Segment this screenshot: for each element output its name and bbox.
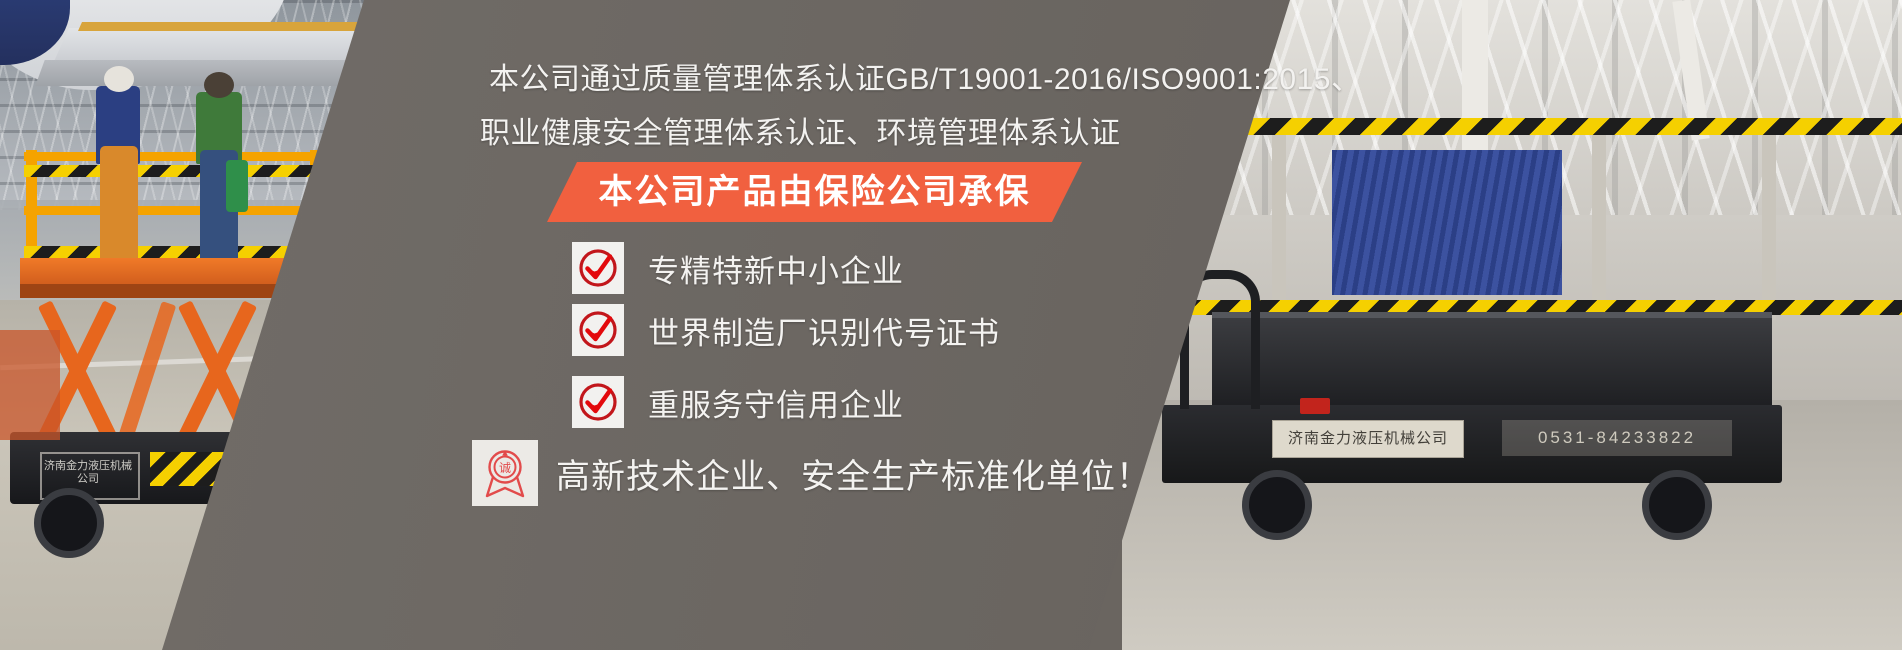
medal-icon-character: 诚 — [499, 461, 511, 475]
banner-content: 本公司通过质量管理体系认证GB/T19001-2016/ISO9001:2015… — [0, 0, 1902, 650]
check-circle-icon — [572, 376, 624, 428]
checklist-item: 重服务守信用企业 — [572, 376, 904, 428]
headline-line-1: 本公司通过质量管理体系认证GB/T19001-2016/ISO9001:2015… — [489, 54, 1361, 98]
check-circle-icon — [572, 304, 624, 356]
medal-rosette-icon: 诚 — [472, 440, 538, 506]
medal-item-label: 高新技术企业、安全生产标准化单位！ — [556, 449, 1151, 498]
checklist-item-label: 专精特新中小企业 — [648, 246, 904, 291]
check-circle-icon — [572, 242, 624, 294]
headline-line-2: 职业健康安全管理体系认证、环境管理体系认证 — [480, 108, 1121, 152]
checklist-item: 专精特新中小企业 — [572, 242, 904, 294]
insurance-ribbon-label: 本公司产品由保险公司承保 — [547, 162, 1082, 222]
checklist-item-label: 世界制造厂识别代号证书 — [648, 308, 1000, 353]
medal-item: 诚 高新技术企业、安全生产标准化单位！ — [472, 440, 1151, 506]
checklist-item-label: 重服务守信用企业 — [648, 380, 904, 425]
promo-banner: 济南金力液压机械公司 济南金力液压机械公司 0531-84233822 — [0, 0, 1902, 650]
checklist-item: 世界制造厂识别代号证书 — [572, 304, 1000, 356]
